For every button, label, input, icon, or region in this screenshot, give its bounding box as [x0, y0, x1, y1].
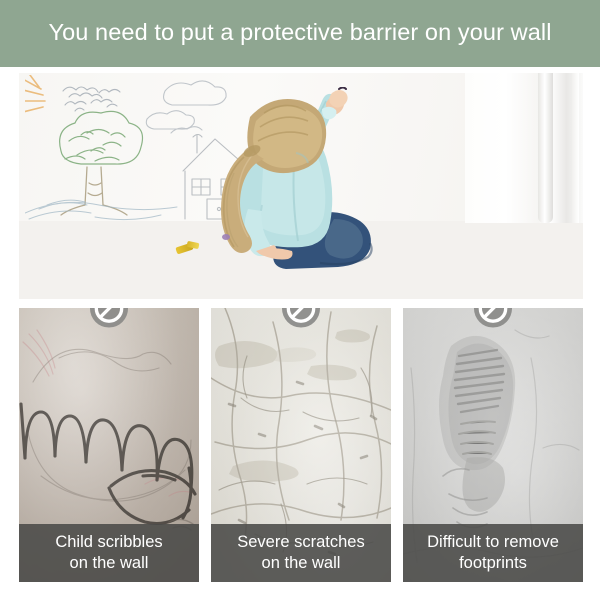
header-band: You need to put a protective barrier on … — [0, 0, 600, 67]
panel-caption: Child scribbles on the wall — [19, 524, 199, 582]
girl-figure — [204, 87, 394, 277]
panel-caption-text: Child scribbles on the wall — [51, 532, 166, 574]
panel-caption: Difficult to remove footprints — [403, 524, 583, 582]
panel-caption-text: Severe scratches on the wall — [233, 532, 368, 574]
panel-caption-text: Difficult to remove footprints — [423, 532, 563, 574]
issue-panels: Child scribbles on the wall — [19, 308, 583, 582]
prohibition-icon — [474, 308, 513, 328]
panel-child-scribbles: Child scribbles on the wall — [19, 308, 199, 582]
prohibition-icon — [282, 308, 321, 328]
door-edge-trim-secondary — [572, 73, 579, 223]
prohibition-icon — [90, 308, 129, 328]
door-edge-trim — [538, 73, 553, 223]
door-panel — [465, 73, 583, 223]
promo-page: You need to put a protective barrier on … — [0, 0, 600, 600]
page-title: You need to put a protective barrier on … — [48, 21, 551, 47]
hero-photo — [19, 73, 583, 299]
panel-caption: Severe scratches on the wall — [211, 524, 391, 582]
panel-footprints: Difficult to remove footprints — [403, 308, 583, 582]
panel-severe-scratches: Severe scratches on the wall — [211, 308, 391, 582]
